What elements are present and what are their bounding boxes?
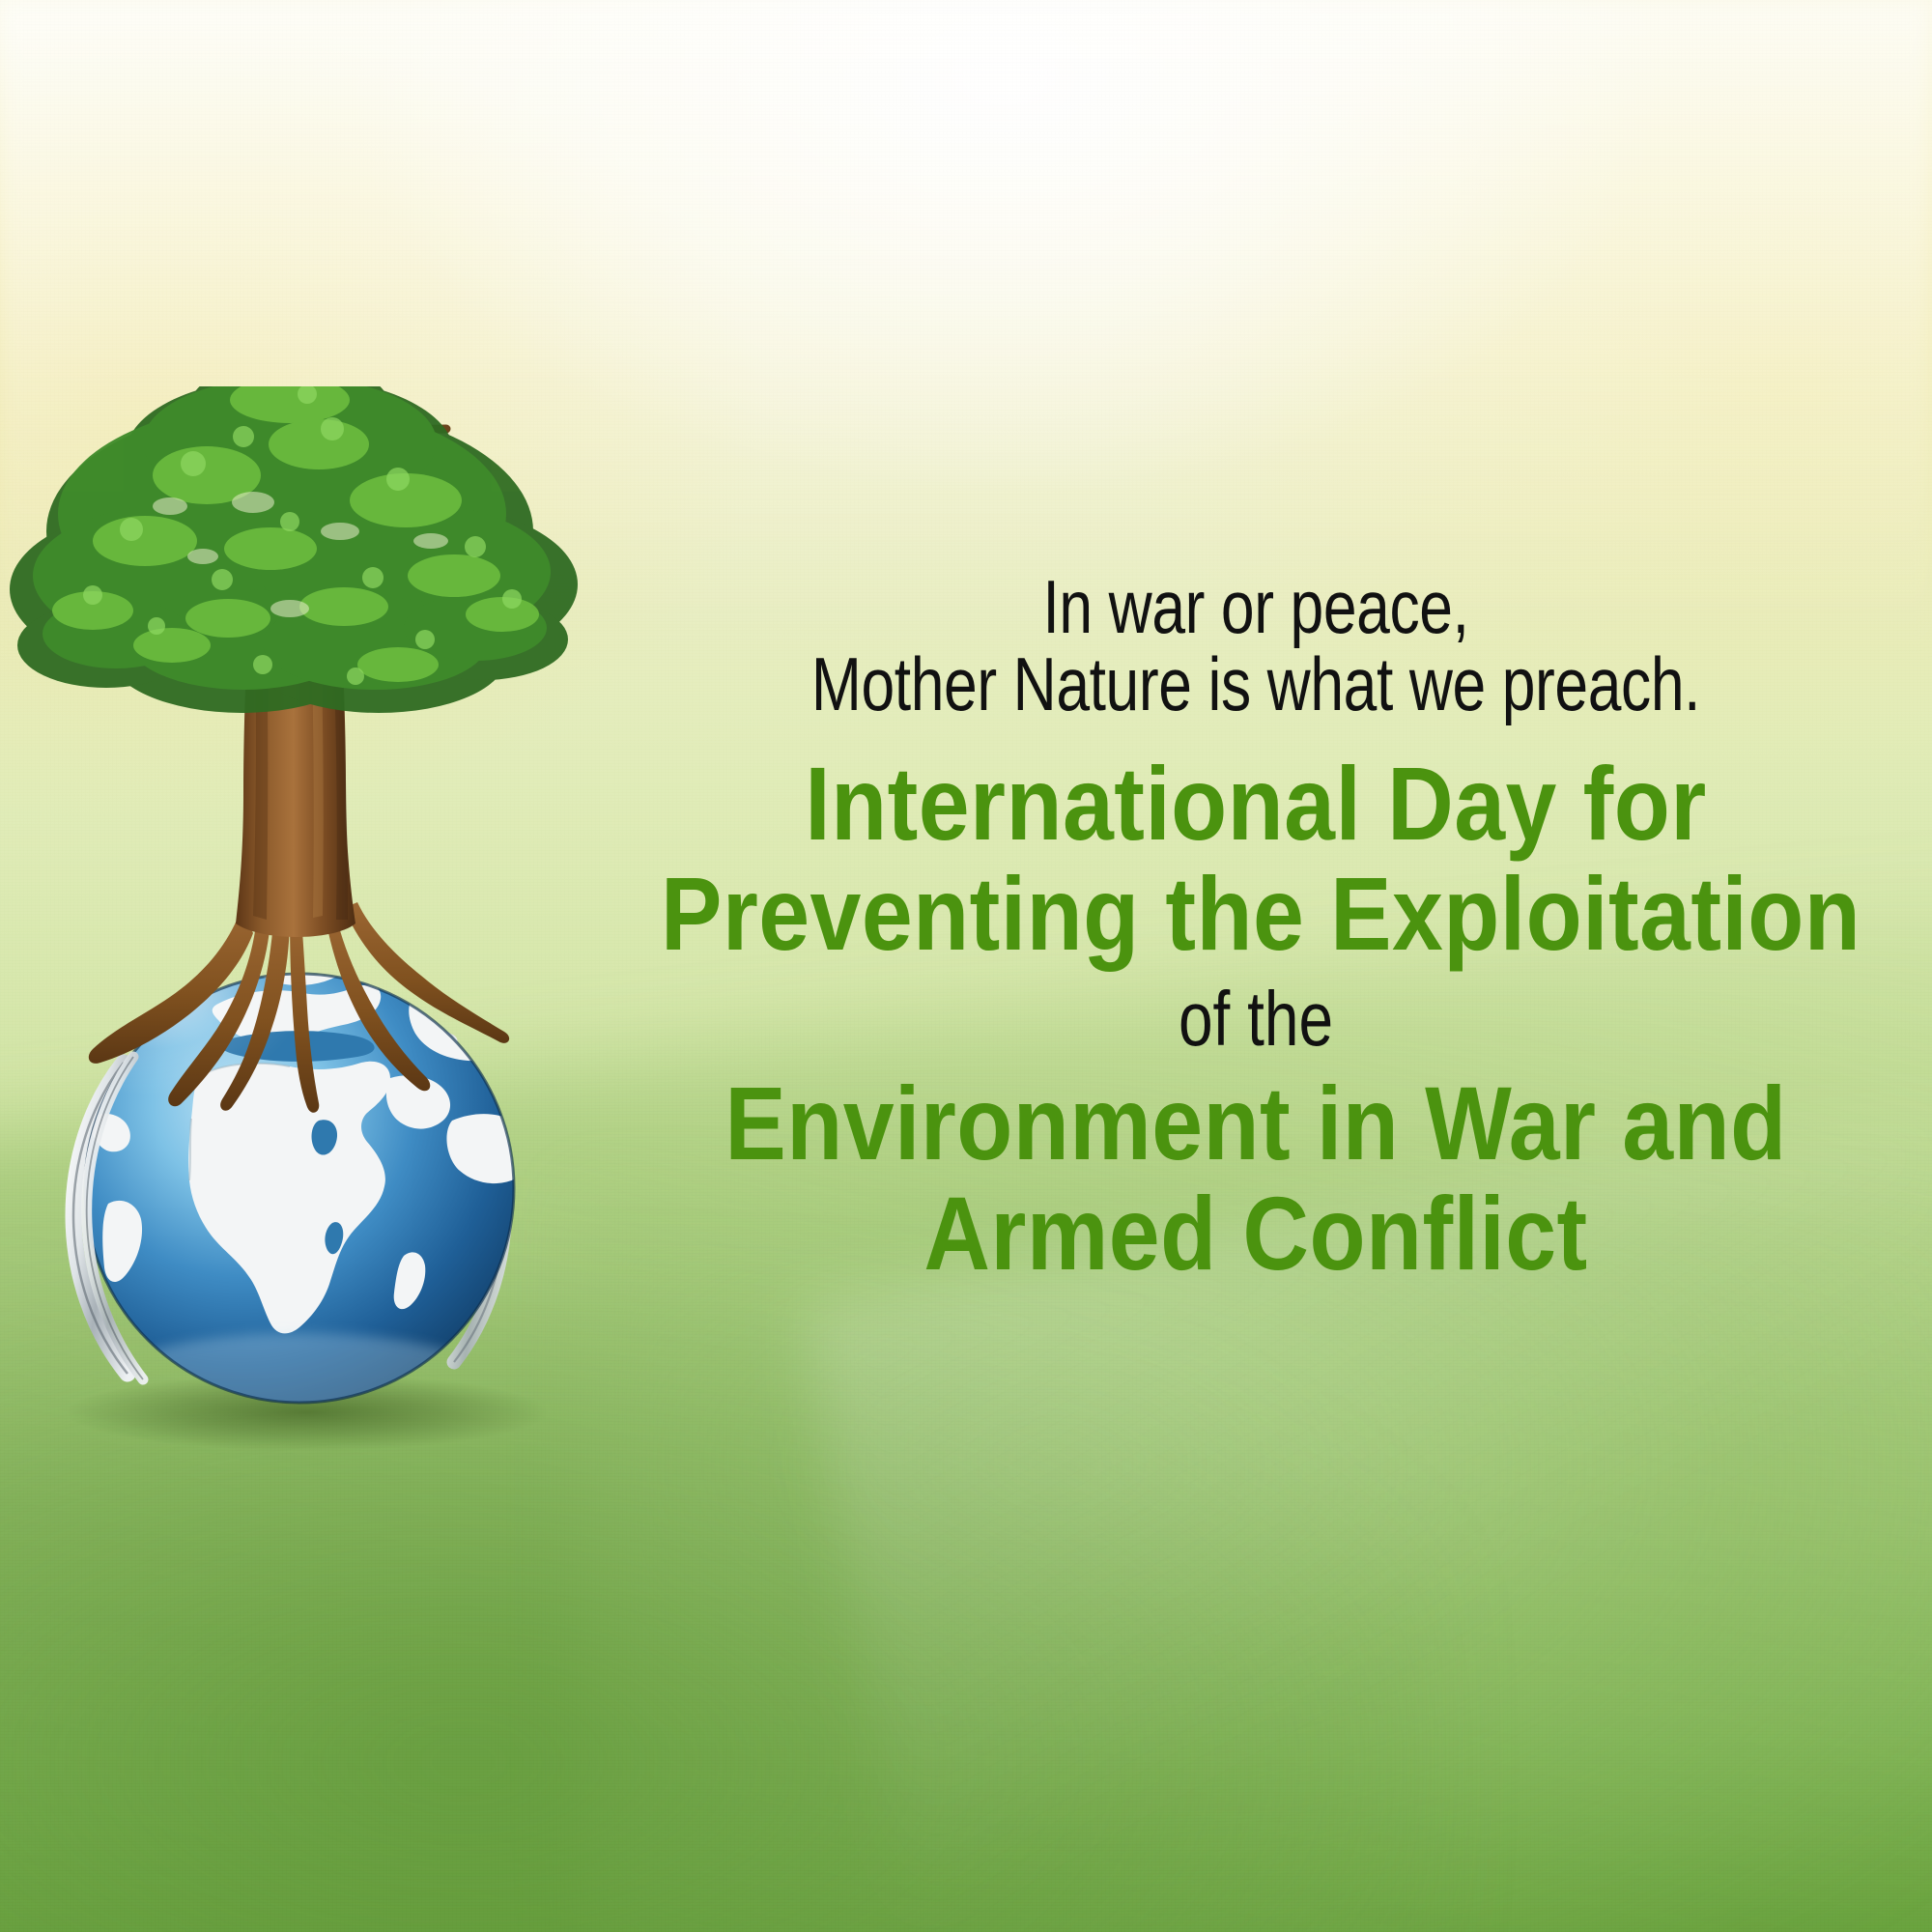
heading-line-5: Armed Conflict xyxy=(661,1179,1851,1289)
heading-line-3: of the xyxy=(715,974,1797,1065)
heading-line-1: International Day for xyxy=(661,749,1851,859)
tagline-line-1: In war or peace, xyxy=(1042,564,1468,649)
heading-line-2: Preventing the Exploitation xyxy=(661,859,1851,969)
heading-line-4: Environment in War and xyxy=(661,1068,1851,1179)
poster-canvas: In war or peace, Mother Nature is what w… xyxy=(0,0,1932,1932)
tree-canopy xyxy=(10,386,578,713)
background-wash-right xyxy=(580,1198,1932,1932)
page-title: International Day for Preventing the Exp… xyxy=(580,749,1932,1290)
tagline: In war or peace, Mother Nature is what w… xyxy=(715,568,1797,724)
tagline-line-2: Mother Nature is what we preach. xyxy=(715,645,1797,723)
tree-on-globe-illustration xyxy=(0,386,599,1526)
poster-text-block: In war or peace, Mother Nature is what w… xyxy=(580,568,1932,1290)
